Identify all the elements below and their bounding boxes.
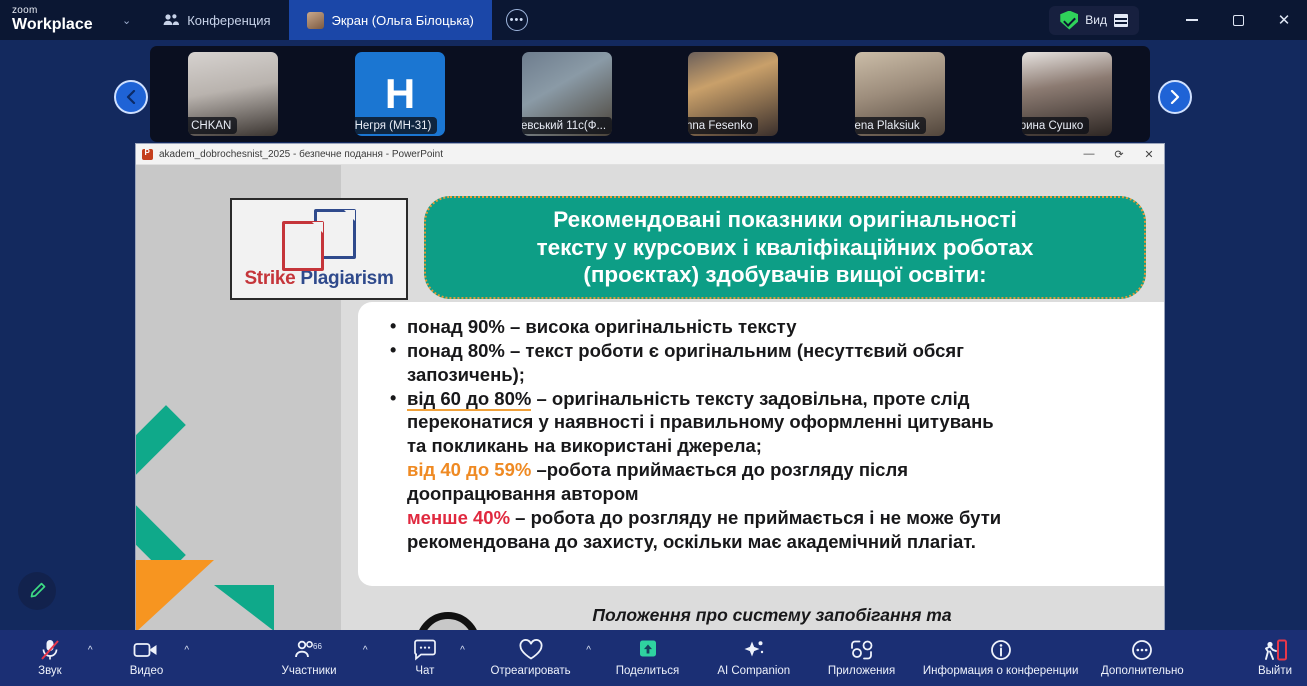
participants-icon bbox=[163, 13, 179, 27]
video-options-chevron-icon[interactable]: ^ bbox=[178, 630, 195, 686]
bullet-text: запозичень); bbox=[407, 364, 525, 385]
svg-text:66: 66 bbox=[313, 642, 322, 651]
layout-grid-icon bbox=[1114, 14, 1128, 27]
powerpoint-minimize-button[interactable]: — bbox=[1074, 144, 1104, 165]
toolbar-video-label: Видео bbox=[130, 665, 164, 677]
audio-options-chevron-icon[interactable]: ^ bbox=[82, 630, 99, 686]
pencil-icon bbox=[27, 581, 47, 601]
toolbar-ai-companion-label: AI Companion bbox=[717, 665, 790, 677]
sparkle-icon bbox=[741, 639, 767, 661]
list-item: рекомендована до захисту, оскільки має а… bbox=[388, 531, 1164, 554]
bullet-text: – оригінальність тексту задовільна, прот… bbox=[531, 388, 969, 409]
slide-heading-line-2: тексту у курсових і кваліфікаційних робо… bbox=[537, 234, 1034, 261]
range-60-80-highlight: від 60 до 80% bbox=[407, 388, 531, 411]
powerpoint-title-bar: akadem_dobrochesnist_2025 - безпечне под… bbox=[136, 144, 1164, 165]
annotate-pencil-button[interactable] bbox=[18, 572, 56, 610]
list-item: понад 90% – висока оригінальність тексту bbox=[388, 316, 1164, 339]
more-options-icon[interactable]: ••• bbox=[506, 9, 528, 31]
toolbar-apps-button[interactable]: Приложения bbox=[815, 630, 907, 686]
view-label: Вид bbox=[1085, 13, 1107, 27]
ellipsis-icon bbox=[1130, 639, 1154, 661]
bullet-text: понад 90% – висока оригінальність тексту bbox=[407, 316, 797, 337]
title-bar-right: Вид ✕ bbox=[1049, 0, 1307, 40]
apps-icon bbox=[849, 639, 875, 661]
participant-nameplate: Olena Plaksiuk bbox=[855, 117, 926, 134]
teal-triangle-decoration bbox=[214, 585, 274, 631]
slide-heading-band: Рекомендовані показники оригінальності т… bbox=[424, 196, 1146, 299]
participant-name: Iryna CHKAN bbox=[188, 120, 231, 132]
avatar bbox=[307, 12, 324, 29]
powerpoint-close-button[interactable]: ✕ bbox=[1134, 144, 1164, 165]
filmstrip-prev-button[interactable] bbox=[114, 80, 148, 114]
tab-meeting[interactable]: Конференция bbox=[145, 0, 288, 40]
chat-options-chevron-icon[interactable]: ^ bbox=[454, 630, 471, 686]
participant-name: Olena Plaksiuk bbox=[855, 120, 920, 132]
toolbar-audio-button[interactable]: Звук bbox=[18, 630, 82, 686]
chat-icon bbox=[413, 639, 437, 661]
bullet-text: рекомендована до захисту, оскільки має а… bbox=[407, 531, 976, 552]
participant-nameplate: Микола Негря (МН-31) bbox=[355, 117, 437, 134]
toolbar-leave-button[interactable]: Выйти bbox=[1243, 630, 1307, 686]
toolbar-share-label: Поделиться bbox=[616, 665, 680, 677]
toolbar-leave-label: Выйти bbox=[1258, 665, 1292, 677]
list-item: запозичень); bbox=[388, 364, 1164, 387]
toolbar-video-button[interactable]: Видео bbox=[115, 630, 179, 686]
shared-powerpoint-window[interactable]: akadem_dobrochesnist_2025 - безпечне под… bbox=[135, 143, 1165, 630]
chevron-decoration bbox=[136, 405, 251, 575]
list-item: переконатися у наявності і правильному о… bbox=[388, 411, 1164, 434]
bullet-text: та покликань на використані джерела; bbox=[407, 435, 762, 456]
toolbar-meeting-info-button[interactable]: Информация о конференции bbox=[922, 630, 1080, 686]
toolbar-apps-label: Приложения bbox=[828, 665, 895, 677]
powerpoint-restore-button[interactable]: ⟳ bbox=[1104, 144, 1134, 165]
bullet-text: понад 80% – текст роботи є оригінальним … bbox=[407, 340, 964, 361]
powerpoint-window-title: akadem_dobrochesnist_2025 - безпечне под… bbox=[159, 149, 443, 160]
meeting-toolbar: Звук ^ Видео ^ 66 Участники ^ Чат ^ bbox=[0, 630, 1307, 686]
tab-meeting-label: Конференция bbox=[187, 13, 270, 28]
view-controls[interactable]: Вид bbox=[1049, 6, 1139, 35]
range-under-40-highlight: менше 40% bbox=[407, 507, 510, 528]
participant-tile[interactable]: Марина Сушко bbox=[1022, 52, 1112, 136]
participant-nameplate: Марина Сушко bbox=[1022, 117, 1090, 134]
bullet-text: – робота до розгляду не приймається і не… bbox=[510, 507, 1001, 528]
list-item: доопрацювання автором bbox=[388, 483, 1164, 506]
list-item: від 60 до 80% – оригінальність тексту за… bbox=[388, 388, 1164, 411]
participant-nameplate: В. Кліщевський 11с(Ф... bbox=[522, 117, 612, 134]
participant-tile[interactable]: Olena Plaksiuk bbox=[855, 52, 945, 136]
leave-icon bbox=[1261, 639, 1289, 661]
participant-nameplate: Anna Fesenko bbox=[688, 117, 758, 134]
list-item: та покликань на використані джерела; bbox=[388, 435, 1164, 458]
logo-word-strike: Strike bbox=[244, 268, 295, 289]
document-red-icon bbox=[282, 221, 324, 271]
shield-icon bbox=[1060, 11, 1078, 30]
heart-icon bbox=[518, 639, 544, 661]
zoom-logo: zoom Workplace bbox=[0, 6, 120, 33]
slide-heading-line-1: Рекомендовані показники оригінальності bbox=[553, 206, 1017, 233]
participant-filmstrip[interactable]: Iryna CHKAN Н Микола Негря (МН-31) В. Кл… bbox=[150, 46, 1150, 142]
list-item: менше 40% – робота до розгляду не прийма… bbox=[388, 507, 1164, 530]
participant-tile[interactable]: В. Кліщевський 11с(Ф... bbox=[522, 52, 612, 136]
powerpoint-icon bbox=[142, 149, 153, 160]
tab-screen-share[interactable]: Экран (Ольга Білоцька) bbox=[289, 0, 492, 40]
workplace-wordmark: Workplace bbox=[12, 17, 120, 34]
powerpoint-window-controls: — ⟳ ✕ bbox=[1074, 144, 1164, 165]
toolbar-participants-label: Участники bbox=[282, 665, 337, 677]
list-item: понад 80% – текст роботи є оригінальним … bbox=[388, 340, 1164, 363]
participants-icon: 66 bbox=[294, 639, 324, 661]
toolbar-audio-label: Звук bbox=[38, 665, 62, 677]
toolbar-more-label: Дополнительно bbox=[1101, 665, 1184, 677]
bullet-text: доопрацювання автором bbox=[407, 483, 639, 504]
tab-screen-share-label: Экран (Ольга Білоцька) bbox=[332, 13, 474, 28]
filmstrip-next-button[interactable] bbox=[1158, 80, 1192, 114]
title-bar: zoom Workplace ⌄ Конференция Экран (Ольг… bbox=[0, 0, 1307, 40]
toolbar-ai-companion-button[interactable]: AI Companion bbox=[704, 630, 803, 686]
slide-bullet-list: понад 90% – висока оригінальність тексту… bbox=[388, 316, 1164, 553]
slide-footer-note: Положення про систему запобігання та bbox=[358, 605, 1164, 626]
close-button[interactable]: ✕ bbox=[1261, 0, 1307, 40]
toolbar-react-label: Отреагировать bbox=[490, 665, 570, 677]
slide-canvas: Strike Plagiarism Рекомендовані показник… bbox=[136, 165, 1164, 631]
toolbar-more-button[interactable]: Дополнительно bbox=[1086, 630, 1200, 686]
logo-text: Strike Plagiarism bbox=[244, 268, 393, 290]
camera-icon bbox=[133, 639, 159, 661]
documents-icon bbox=[280, 209, 358, 265]
toolbar-chat-button[interactable]: Чат bbox=[396, 630, 455, 686]
react-options-chevron-icon[interactable]: ^ bbox=[580, 630, 597, 686]
share-screen-icon bbox=[635, 639, 661, 661]
chevron-down-icon[interactable]: ⌄ bbox=[122, 14, 131, 27]
logo-word-plagiarism: Plagiarism bbox=[295, 268, 393, 289]
participant-tile[interactable]: Anna Fesenko bbox=[688, 52, 778, 136]
participant-tile[interactable]: Н Микола Негря (МН-31) bbox=[355, 52, 445, 136]
toolbar-share-button[interactable]: Поделиться bbox=[605, 630, 690, 686]
microphone-muted-icon bbox=[39, 639, 61, 661]
participants-options-chevron-icon[interactable]: ^ bbox=[357, 630, 374, 686]
slide-body-card: понад 90% – висока оригінальність тексту… bbox=[358, 302, 1164, 586]
zoom-app-window: zoom Workplace ⌄ Конференция Экран (Ольг… bbox=[0, 0, 1307, 686]
participant-name: Микола Негря (МН-31) bbox=[355, 120, 431, 132]
toolbar-participants-button[interactable]: 66 Участники bbox=[261, 630, 357, 686]
strike-plagiarism-logo: Strike Plagiarism bbox=[230, 198, 408, 300]
participant-name: Марина Сушко bbox=[1022, 120, 1084, 132]
toolbar-chat-label: Чат bbox=[415, 665, 434, 677]
slide-heading-line-3: (проєктах) здобувачів вищої освіти: bbox=[583, 261, 986, 288]
bullet-text: –робота приймається до розгляду після bbox=[531, 459, 908, 480]
toolbar-react-button[interactable]: Отреагировать bbox=[481, 630, 580, 686]
participant-name: В. Кліщевський 11с(Ф... bbox=[522, 120, 606, 132]
bullet-text: переконатися у наявності і правильному о… bbox=[407, 411, 994, 432]
orange-triangle-decoration bbox=[136, 560, 214, 631]
range-40-59-highlight: від 40 до 59% bbox=[407, 459, 531, 480]
toolbar-meeting-info-label: Информация о конференции bbox=[923, 665, 1079, 677]
info-icon bbox=[989, 639, 1013, 661]
minimize-button[interactable] bbox=[1169, 0, 1215, 40]
participant-nameplate: Iryna CHKAN bbox=[188, 117, 237, 134]
participant-name: Anna Fesenko bbox=[688, 120, 752, 132]
list-item: від 40 до 59% –робота приймається до роз… bbox=[388, 459, 1164, 482]
restore-button[interactable] bbox=[1215, 0, 1261, 40]
participant-tile[interactable]: Iryna CHKAN bbox=[188, 52, 278, 136]
